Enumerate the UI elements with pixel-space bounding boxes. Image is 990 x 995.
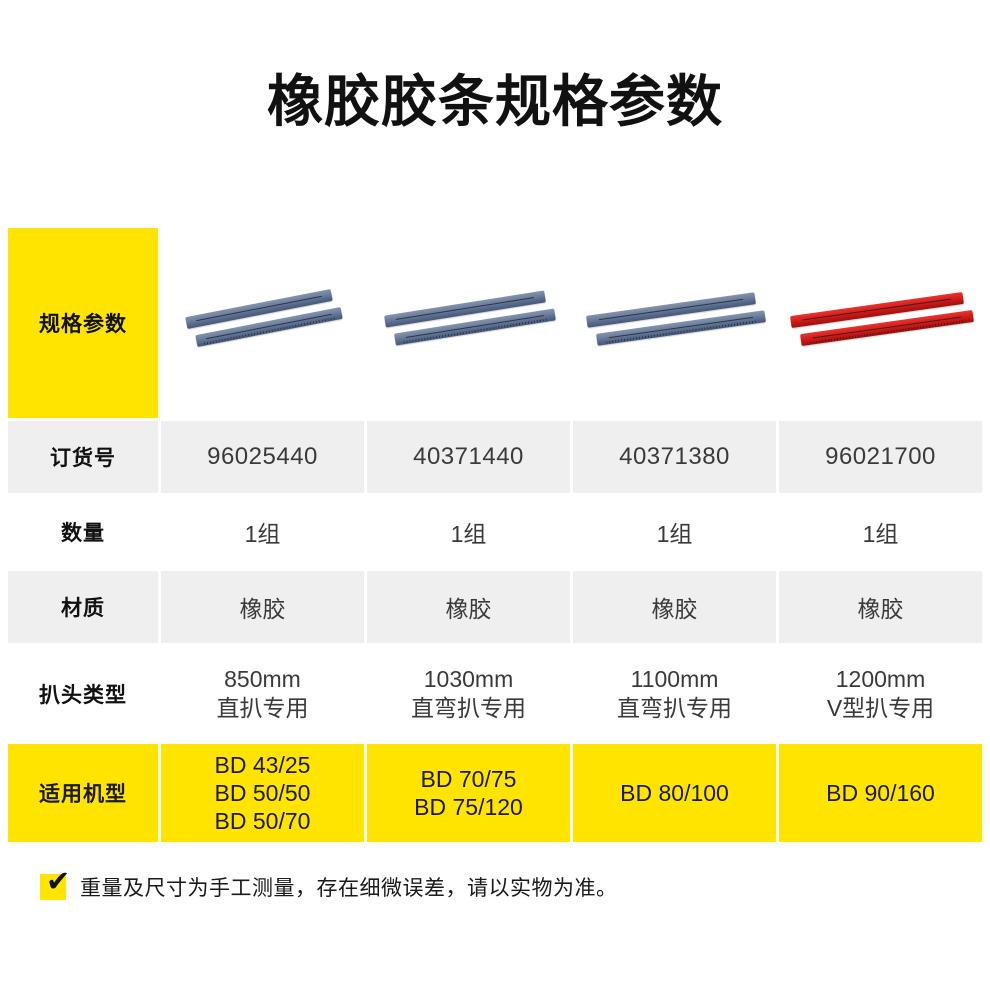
models-value-3: BD 80/100	[573, 744, 776, 842]
product-image-cell-4	[779, 228, 982, 418]
head-type-usage-4: V型扒专用	[827, 694, 934, 722]
product-image-cell-3	[573, 228, 776, 418]
quantity-value-3: 1组	[573, 496, 776, 568]
order-no-value-2: 40371440	[367, 421, 570, 493]
product-image-cell-1	[161, 228, 364, 418]
model-item: BD 70/75	[421, 765, 517, 793]
material-value-4: 橡胶	[779, 571, 982, 643]
head-type-size-2: 1030mm	[424, 665, 513, 693]
rubber-strip-blue-image	[371, 275, 567, 371]
row-label-head-type: 扒头类型	[8, 646, 158, 741]
model-item: BD 90/160	[826, 779, 935, 807]
head-type-value-2: 1030mm 直弯扒专用	[367, 646, 570, 741]
head-type-size-4: 1200mm	[836, 665, 925, 693]
row-label-material: 材质	[8, 571, 158, 643]
head-type-value-3: 1100mm 直弯扒专用	[573, 646, 776, 741]
row-label-spec: 规格参数	[8, 228, 158, 418]
head-type-usage-3: 直弯扒专用	[617, 694, 732, 722]
table-row-models: 适用机型 BD 43/25 BD 50/50 BD 50/70 BD 70/75…	[8, 744, 982, 842]
rubber-strip-blue-image	[165, 275, 361, 371]
page-title: 橡胶胶条规格参数	[0, 70, 990, 134]
model-item: BD 75/120	[414, 793, 523, 821]
rubber-strip-blue-image	[577, 275, 773, 371]
head-type-size-3: 1100mm	[631, 665, 719, 693]
table-row-spec: 规格参数	[8, 228, 982, 418]
rubber-strip-red-image	[783, 275, 979, 371]
strip-teeth	[605, 320, 757, 344]
head-type-usage-2: 直弯扒专用	[411, 694, 526, 722]
quantity-value-4: 1组	[779, 496, 982, 568]
models-value-4: BD 90/160	[779, 744, 982, 842]
order-no-value-1: 96025440	[161, 421, 364, 493]
row-label-order-no: 订货号	[8, 421, 158, 493]
check-mark-icon: ✔	[40, 874, 66, 900]
model-item: BD 50/70	[215, 807, 311, 835]
table-row-order-no: 订货号 96025440 40371440 40371380 96021700	[8, 421, 982, 493]
table-row-material: 材质 橡胶 橡胶 橡胶 橡胶	[8, 571, 982, 643]
head-type-size-1: 850mm	[224, 665, 301, 693]
quantity-value-1: 1组	[161, 496, 364, 568]
check-glyph: ✔	[46, 869, 72, 895]
material-value-2: 橡胶	[367, 571, 570, 643]
order-no-value-3: 40371380	[573, 421, 776, 493]
head-type-value-4: 1200mm V型扒专用	[779, 646, 982, 741]
material-value-3: 橡胶	[573, 571, 776, 643]
table-row-quantity: 数量 1组 1组 1组 1组	[8, 496, 982, 568]
footer-note-text: 重量及尺寸为手工测量，存在细微误差，请以实物为准。	[80, 872, 618, 902]
spec-table: 规格参数	[8, 228, 982, 842]
quantity-value-2: 1组	[367, 496, 570, 568]
footer-note: ✔ 重量及尺寸为手工测量，存在细微误差，请以实物为准。	[40, 872, 618, 902]
table-row-head-type: 扒头类型 850mm 直扒专用 1030mm 直弯扒专用 1100mm 直弯扒专…	[8, 646, 982, 741]
row-label-quantity: 数量	[8, 496, 158, 568]
model-item: BD 43/25	[215, 751, 311, 779]
models-value-2: BD 70/75 BD 75/120	[367, 744, 570, 842]
model-item: BD 80/100	[620, 779, 729, 807]
model-item: BD 50/50	[215, 779, 311, 807]
head-type-usage-1: 直扒专用	[217, 694, 309, 722]
product-image-cell-2	[367, 228, 570, 418]
material-value-1: 橡胶	[161, 571, 364, 643]
order-no-value-4: 96021700	[779, 421, 982, 493]
head-type-value-1: 850mm 直扒专用	[161, 646, 364, 741]
models-value-1: BD 43/25 BD 50/50 BD 50/70	[161, 744, 364, 842]
row-label-models: 适用机型	[8, 744, 158, 842]
strip-teeth	[809, 320, 964, 344]
strip-teeth	[403, 318, 547, 343]
